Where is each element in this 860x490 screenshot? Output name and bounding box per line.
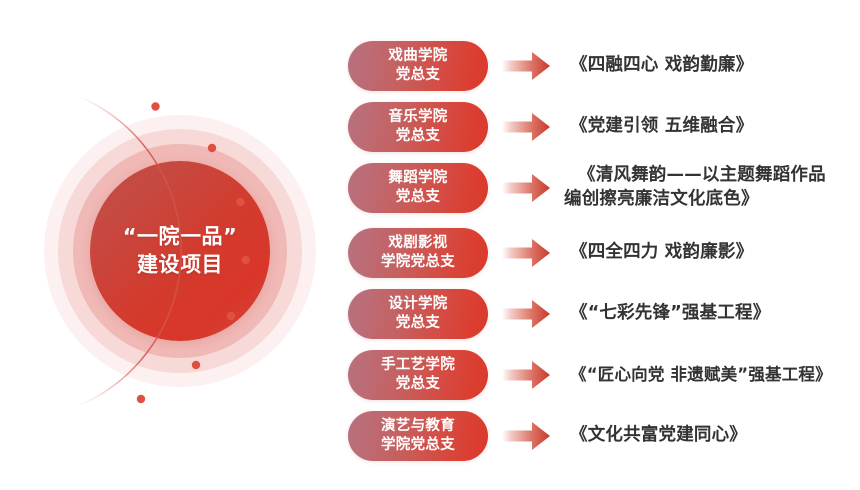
right-arrow-icon — [502, 238, 550, 268]
department-pill-line1: 设计学院 — [388, 295, 447, 314]
right-arrow-icon — [502, 299, 550, 329]
department-pill-line1: 手工艺学院 — [381, 356, 455, 375]
outcome-line1: 《“七彩先锋”强基工程》 — [570, 302, 858, 326]
department-pill-line2: 党总支 — [388, 66, 447, 85]
department-pill-text: 戏剧影视 学院党总支 — [381, 234, 455, 271]
right-arrow-icon — [502, 360, 550, 390]
outcome-text: 《“匠心向党 非遗赋美”强基工程》 — [564, 364, 858, 386]
department-pill-line2: 党总支 — [381, 375, 455, 394]
outcome-text: 《四全四力 戏韵廉影》 — [564, 241, 858, 265]
emblem-title: “一院一品” 建设项目 — [80, 223, 280, 278]
department-pill-line2: 党总支 — [388, 188, 447, 207]
outcome-line1: 《党建引领 五维融合》 — [570, 115, 858, 139]
outcome-text: 《清风舞韵——以主题舞蹈作品 编创擦亮廉洁文化底色》 — [564, 164, 858, 212]
department-pill-line1: 音乐学院 — [388, 108, 447, 127]
department-pill[interactable]: 舞蹈学院 党总支 — [348, 163, 488, 213]
right-arrow-icon — [502, 173, 550, 203]
outcome-text: 《文化共富党建同心》 — [564, 424, 858, 448]
department-pill-text: 演艺与教育 学院党总支 — [381, 417, 455, 454]
emblem-title-line1: “一院一品” — [80, 223, 280, 251]
department-pill-line1: 戏曲学院 — [388, 47, 447, 66]
outcome-line2: 编创擦亮廉洁文化底色》 — [564, 188, 858, 212]
emblem-graphic: “一院一品” 建设项目 — [0, 0, 360, 490]
department-pill[interactable]: 戏曲学院 党总支 — [348, 41, 488, 91]
department-pill-text: 手工艺学院 党总支 — [381, 356, 455, 393]
flow-row: 戏曲学院 党总支 《四融四心 戏韵勤廉》 — [348, 40, 858, 92]
outcome-line1: 《“匠心向党 非遗赋美”强基工程》 — [570, 364, 858, 386]
department-pill[interactable]: 戏剧影视 学院党总支 — [348, 228, 488, 278]
department-pill[interactable]: 手工艺学院 党总支 — [348, 350, 488, 400]
department-pill-line1: 戏剧影视 — [381, 234, 455, 253]
department-pill-line1: 演艺与教育 — [381, 417, 455, 436]
department-pill-text: 舞蹈学院 党总支 — [388, 169, 447, 206]
department-pill-line2: 党总支 — [388, 127, 447, 146]
outcome-line1: 《四全四力 戏韵廉影》 — [570, 241, 858, 265]
department-pill-text: 戏曲学院 党总支 — [388, 47, 447, 84]
orbit-dot — [137, 395, 145, 403]
department-pill-line1: 舞蹈学院 — [388, 169, 447, 188]
flow-row: 设计学院 党总支 《“七彩先锋”强基工程》 — [348, 288, 858, 340]
department-pill[interactable]: 设计学院 党总支 — [348, 289, 488, 339]
department-pill-text: 设计学院 党总支 — [388, 295, 447, 332]
department-pill[interactable]: 音乐学院 党总支 — [348, 102, 488, 152]
flow-row: 演艺与教育 学院党总支 《文化共富党建同心》 — [348, 410, 858, 462]
right-arrow-icon — [502, 421, 550, 451]
flow-row: 戏剧影视 学院党总支 《四全四力 戏韵廉影》 — [348, 227, 858, 279]
department-pill-line2: 党总支 — [388, 314, 447, 333]
outcome-line1: 《清风舞韵——以主题舞蹈作品 — [564, 164, 858, 188]
outcome-line1: 《四融四心 戏韵勤廉》 — [570, 54, 858, 78]
outcome-text: 《“七彩先锋”强基工程》 — [564, 302, 858, 326]
flow-row: 舞蹈学院 党总支 《清风舞韵——以主题舞蹈作品 编创擦亮廉洁文化底色》 — [348, 162, 858, 214]
outcome-text: 《党建引领 五维融合》 — [564, 115, 858, 139]
outcome-text: 《四融四心 戏韵勤廉》 — [564, 54, 858, 78]
flow-row: 手工艺学院 党总支 《“匠心向党 非遗赋美”强基工程》 — [348, 349, 858, 401]
department-pill-text: 音乐学院 党总支 — [388, 108, 447, 145]
orbit-dot — [151, 102, 159, 110]
right-arrow-icon — [502, 51, 550, 81]
emblem-title-line2: 建设项目 — [80, 251, 280, 279]
outcome-line1: 《文化共富党建同心》 — [570, 424, 858, 448]
department-pill-line2: 学院党总支 — [381, 253, 455, 272]
department-pill-line2: 学院党总支 — [381, 436, 455, 455]
department-pill[interactable]: 演艺与教育 学院党总支 — [348, 411, 488, 461]
flow-row: 音乐学院 党总支 《党建引领 五维融合》 — [348, 101, 858, 153]
right-arrow-icon — [502, 112, 550, 142]
slide-canvas: “一院一品” 建设项目 — [0, 0, 860, 490]
